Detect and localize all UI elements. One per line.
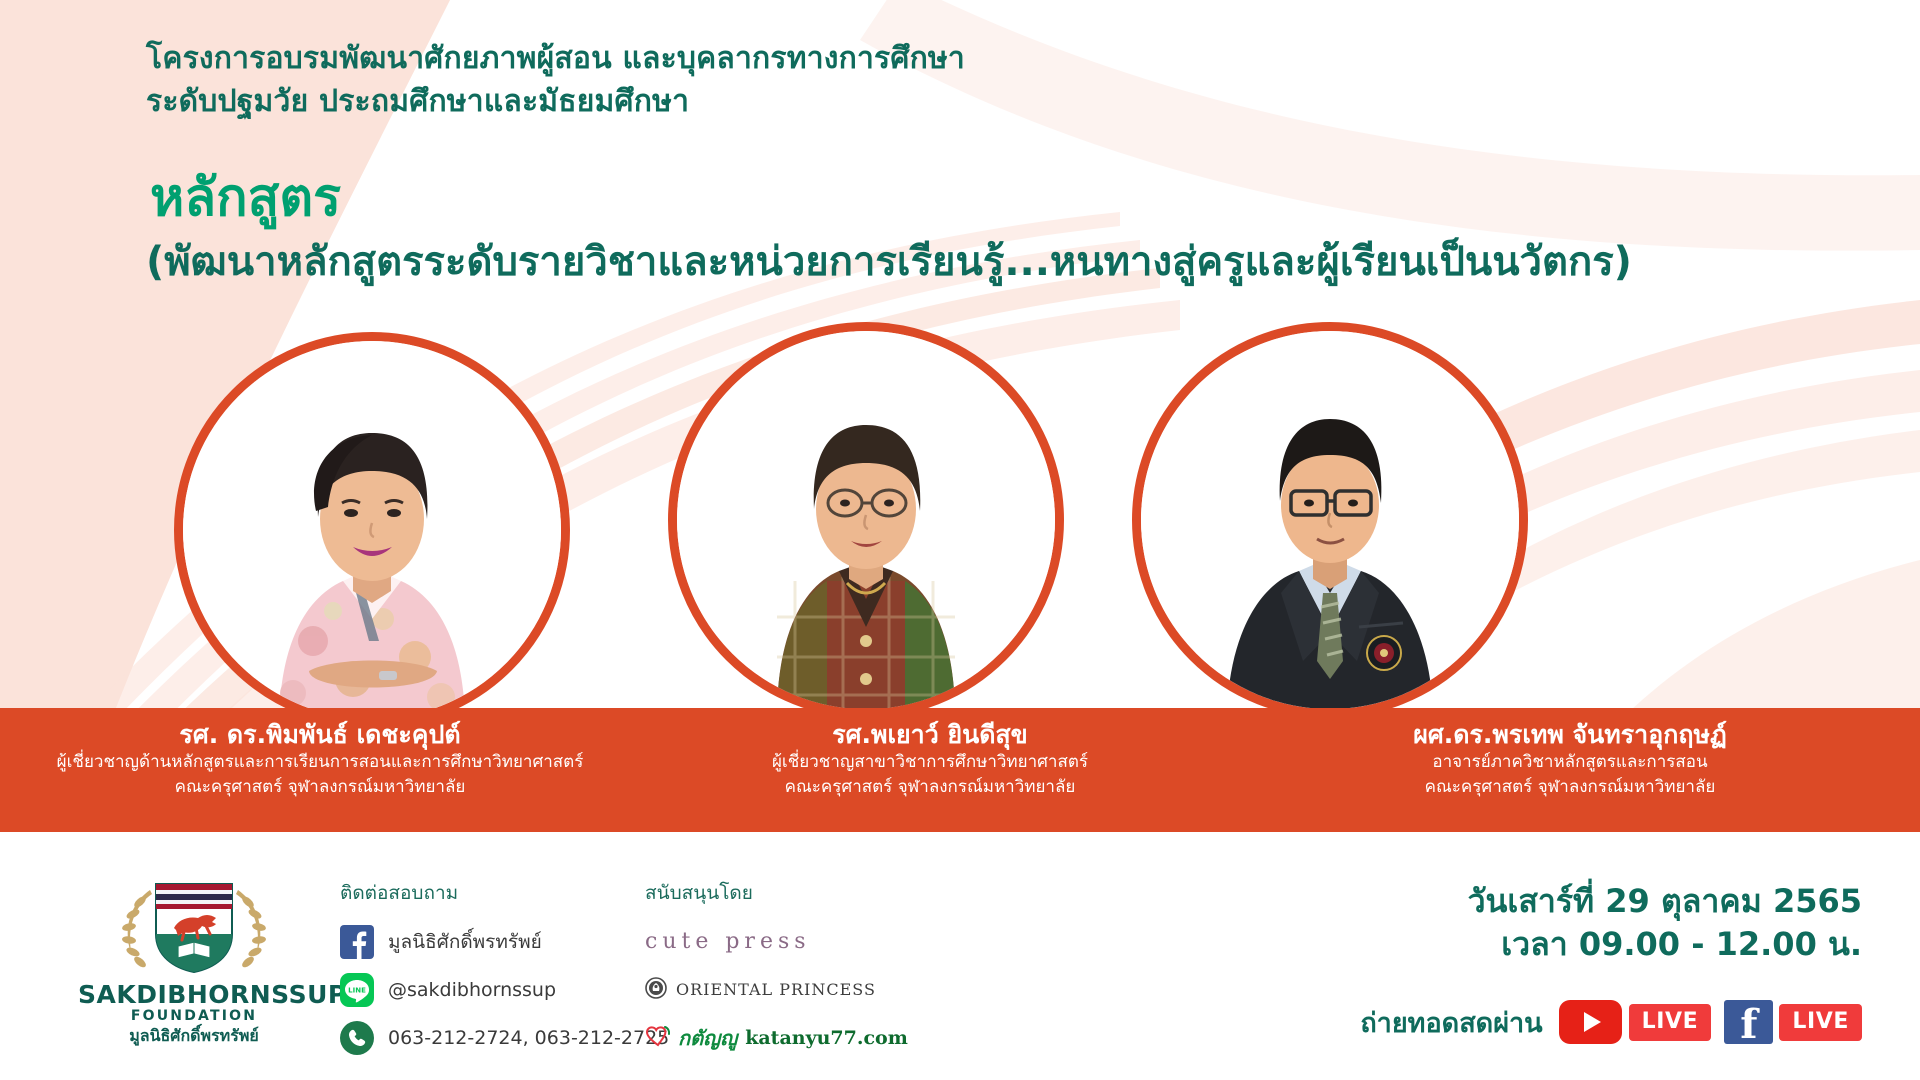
foundation-name-thai: มูลนิธิศักดิ์พรทรัพย์ — [78, 1026, 310, 1047]
broadcast-block: ถ่ายทอดสดผ่าน LIVE f LIVE — [1360, 1000, 1862, 1044]
sponsors-heading: สนับสนุนโดย — [645, 878, 945, 908]
foundation-subtitle: FOUNDATION — [78, 1008, 310, 1025]
cute-press-logo: cute press — [645, 929, 811, 954]
speaker-info-2: รศ.พเยาว์ ยินดีสุข ผู้เชี่ยวชาญสาขาวิชาก… — [640, 708, 1220, 832]
sponsor-cute-press: cute press — [645, 921, 945, 962]
facebook-page-name: มูลนิธิศักดิ์พรทรัพย์ — [388, 927, 542, 957]
katanyu-thai-label: กตัญญู — [678, 1022, 737, 1054]
contact-row-facebook[interactable]: มูลนิธิศักดิ์พรทรัพย์ — [340, 921, 630, 962]
sponsor-katanyu[interactable]: กตัญญู katanyu77.com — [645, 1017, 945, 1058]
broadcast-label: ถ่ายทอดสดผ่าน — [1360, 1001, 1542, 1044]
speaker-photo-1 — [174, 332, 570, 728]
speaker-3-org: คณะครุศาสตร์ จุฬาลงกรณ์มหาวิทยาลัย — [1220, 775, 1920, 800]
portrait-woman-pink-batik — [183, 341, 561, 719]
header-text-block: โครงการอบรมพัฒนาศักยภาพผู้สอน และบุคลากร… — [146, 38, 965, 123]
speaker-1-name: รศ. ดร.พิมพันธ์ เดชะคุปต์ — [0, 719, 640, 750]
header-line-1: โครงการอบรมพัฒนาศักยภาพผู้สอน และบุคลากร… — [146, 38, 965, 81]
speaker-photo-2 — [668, 322, 1064, 718]
event-time: เวลา 09.00 - 12.00 น. — [1468, 923, 1862, 966]
portrait-man-dark-suit — [1141, 331, 1519, 709]
speaker-2-name: รศ.พเยาว์ ยินดีสุข — [640, 719, 1220, 750]
facebook-live-badge[interactable]: LIVE — [1779, 1004, 1862, 1041]
facebook-icon — [340, 925, 374, 959]
phone-icon — [340, 1021, 374, 1055]
speaker-2-org: คณะครุศาสตร์ จุฬาลงกรณ์มหาวิทยาลัย — [640, 775, 1220, 800]
play-triangle-icon — [1584, 1012, 1601, 1032]
schedule-block: วันเสาร์ที่ 29 ตุลาคม 2565 เวลา 09.00 - … — [1468, 880, 1862, 965]
katanyu-heart-icon — [645, 1025, 671, 1051]
shield-horse-laurel-crest — [78, 872, 310, 980]
oriental-princess-icon — [645, 977, 667, 1003]
event-poster: โครงการอบรมพัฒนาศักยภาพผู้สอน และบุคลากร… — [0, 0, 1920, 1080]
oriental-princess-label: ORIENTAL PRINCESS — [676, 980, 876, 999]
youtube-icon[interactable] — [1559, 1000, 1622, 1044]
foundation-name: SAKDIBHORNSSUP — [78, 982, 310, 1008]
speaker-name-band: รศ. ดร.พิมพันธ์ เดชะคุปต์ ผู้เชี่ยวชาญด้… — [0, 708, 1920, 832]
katanyu-url: katanyu77.com — [745, 1027, 908, 1049]
line-id: @sakdibhornssup — [388, 979, 556, 1001]
facebook-icon[interactable]: f — [1724, 1000, 1773, 1044]
youtube-live-badge[interactable]: LIVE — [1629, 1004, 1712, 1041]
facebook-f-glyph: f — [1740, 1007, 1757, 1044]
speaker-3-role: อาจารย์ภาควิชาหลักสูตรและการสอน — [1220, 750, 1920, 775]
page-subtitle: (พัฒนาหลักสูตรระดับรายวิชาและหน่วยการเรี… — [146, 240, 1632, 284]
sponsors-section: สนับสนุนโดย cute press ORIENTAL PRINCESS — [645, 878, 945, 1065]
foundation-logo: SAKDIBHORNSSUP FOUNDATION มูลนิธิศักดิ์พ… — [78, 872, 310, 1047]
svg-text:LINE: LINE — [348, 986, 366, 994]
portrait-woman-plaid-jacket — [677, 331, 1055, 709]
line-icon: LINE — [340, 973, 374, 1007]
speaker-1-org: คณะครุศาสตร์ จุฬาลงกรณ์มหาวิทยาลัย — [0, 775, 640, 800]
phone-numbers: 063-212-2724, 063-212-2725 — [388, 1027, 669, 1049]
contact-row-line[interactable]: LINE @sakdibhornssup — [340, 969, 630, 1010]
page-title: หลักสูตร — [150, 172, 341, 224]
speaker-info-3: ผศ.ดร.พรเทพ จันทราอุกฤษฏ์ อาจารย์ภาควิชา… — [1220, 708, 1920, 832]
sponsor-oriental-princess: ORIENTAL PRINCESS — [645, 969, 945, 1010]
speaker-1-role: ผู้เชี่ยวชาญด้านหลักสูตรและการเรียนการสอ… — [0, 750, 640, 775]
contact-row-phone[interactable]: 063-212-2724, 063-212-2725 — [340, 1017, 630, 1058]
speaker-3-name: ผศ.ดร.พรเทพ จันทราอุกฤษฏ์ — [1220, 719, 1920, 750]
speaker-info-1: รศ. ดร.พิมพันธ์ เดชะคุปต์ ผู้เชี่ยวชาญด้… — [0, 708, 640, 832]
speaker-photo-3 — [1132, 322, 1528, 718]
contact-heading: ติดต่อสอบถาม — [340, 878, 630, 908]
contact-section: ติดต่อสอบถาม มูลนิธิศักดิ์พรทรัพย์ LINE … — [340, 878, 630, 1065]
speaker-2-role: ผู้เชี่ยวชาญสาขาวิชาการศึกษาวิทยาศาสตร์ — [640, 750, 1220, 775]
header-line-2: ระดับปฐมวัย ประถมศึกษาและมัธยมศึกษา — [146, 81, 965, 124]
event-date: วันเสาร์ที่ 29 ตุลาคม 2565 — [1468, 880, 1862, 923]
